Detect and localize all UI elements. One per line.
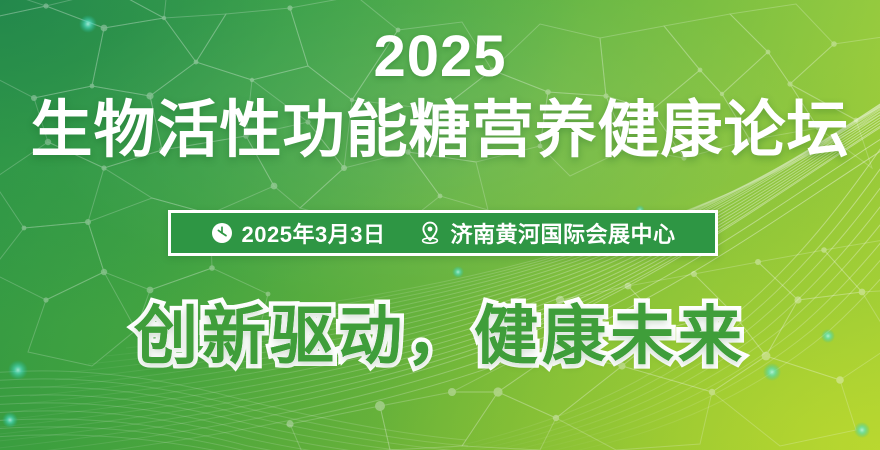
event-title: 生物活性功能糖营养健康论坛 — [0, 98, 880, 165]
banner-content: 2025 生物活性功能糖营养健康论坛 2025年3月3日 — [0, 0, 880, 450]
event-date-text: 2025年3月3日 — [242, 217, 386, 249]
event-venue-text: 济南黄河国际会展中心 — [450, 217, 675, 249]
event-venue: 济南黄河国际会展中心 — [419, 217, 675, 249]
event-banner: 2025 生物活性功能糖营养健康论坛 2025年3月3日 — [0, 0, 880, 450]
event-year: 2025 — [0, 28, 880, 86]
event-info-bar: 2025年3月3日 济南黄河国际会展中心 — [168, 210, 718, 256]
event-date: 2025年3月3日 — [211, 217, 386, 249]
event-slogan: 创新驱动，健康未来 — [0, 300, 880, 374]
clock-icon — [211, 222, 233, 244]
location-pin-icon — [419, 221, 441, 245]
